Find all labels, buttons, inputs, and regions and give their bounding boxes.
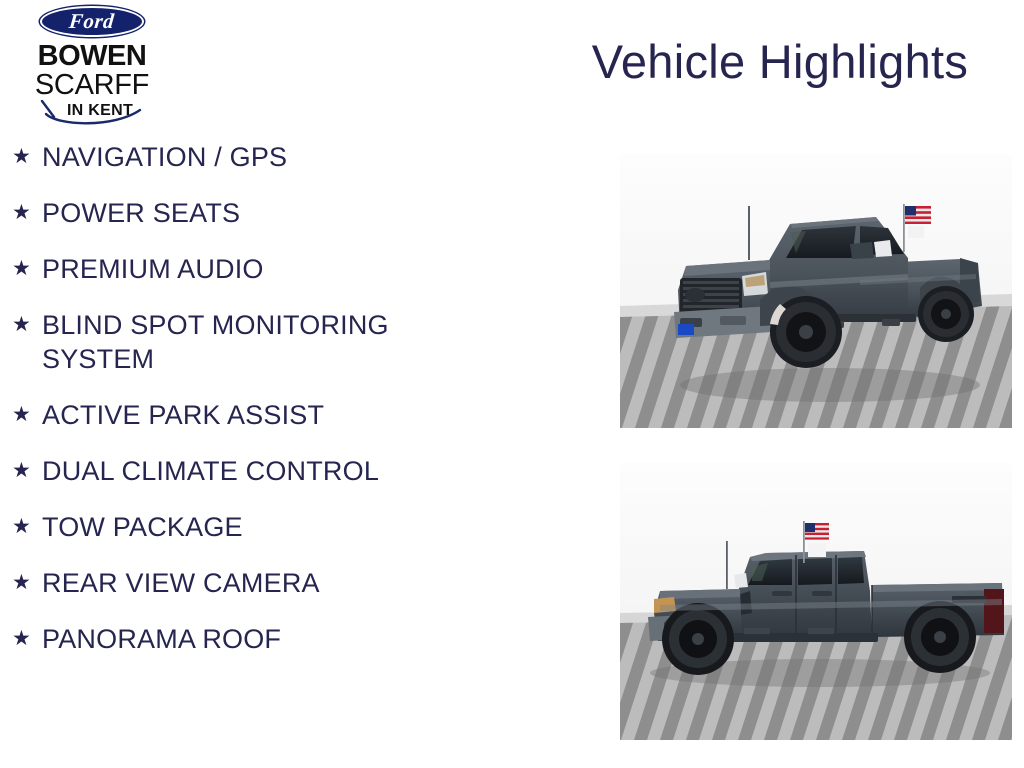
vehicle-photo-side-profile[interactable] [620, 463, 1012, 740]
list-item: ★ TOW PACKAGE [12, 510, 532, 544]
list-item: ★ DUAL CLIMATE CONTROL [12, 454, 532, 488]
list-item: ★ REAR VIEW CAMERA [12, 566, 532, 600]
list-item: ★ PREMIUM AUDIO [12, 252, 532, 286]
feature-label: REAR VIEW CAMERA [42, 566, 320, 600]
star-icon: ★ [12, 140, 42, 174]
star-icon: ★ [12, 510, 42, 544]
dealer-name-line-3: IN KENT [67, 102, 133, 120]
star-icon: ★ [12, 252, 42, 286]
feature-label: TOW PACKAGE [42, 510, 243, 544]
list-item: ★ POWER SEATS [12, 196, 532, 230]
star-icon: ★ [12, 454, 42, 488]
star-icon: ★ [12, 398, 42, 432]
star-icon: ★ [12, 566, 42, 600]
feature-label: PANORAMA ROOF [42, 622, 281, 656]
list-item: ★ ACTIVE PARK ASSIST [12, 398, 532, 432]
ford-oval-logo-icon: Ford [40, 6, 144, 37]
feature-label: DUAL CLIMATE CONTROL [42, 454, 379, 488]
star-icon: ★ [12, 308, 42, 342]
star-icon: ★ [12, 622, 42, 656]
feature-label: NAVIGATION / GPS [42, 140, 287, 174]
ford-wordmark: Ford [68, 11, 115, 32]
feature-label: PREMIUM AUDIO [42, 252, 264, 286]
dealer-logo: Ford BOWEN SCARFF IN KENT [8, 4, 176, 122]
feature-label: BLIND SPOT MONITORING SYSTEM [42, 308, 462, 376]
dealer-location-row: IN KENT [22, 101, 162, 122]
vehicle-highlights-list: ★ NAVIGATION / GPS ★ POWER SEATS ★ PREMI… [12, 140, 532, 678]
feature-label: ACTIVE PARK ASSIST [42, 398, 324, 432]
vehicle-photo-front-three-quarter[interactable] [620, 154, 1012, 428]
star-icon: ★ [12, 196, 42, 230]
list-item: ★ NAVIGATION / GPS [12, 140, 532, 174]
feature-label: POWER SEATS [42, 196, 240, 230]
dealer-name-line-1: BOWEN [38, 42, 147, 71]
page-title: Vehicle Highlights [560, 34, 1000, 89]
list-item: ★ PANORAMA ROOF [12, 622, 532, 656]
vehicle-photo-side-profile-image [620, 463, 1012, 740]
vehicle-highlights-slide: Ford BOWEN SCARFF IN KENT Vehicle Highli… [0, 0, 1024, 768]
list-item: ★ BLIND SPOT MONITORING SYSTEM [12, 308, 532, 376]
dealer-name-line-2: SCARFF [35, 71, 149, 101]
vehicle-photo-front-three-quarter-image [620, 154, 1012, 428]
